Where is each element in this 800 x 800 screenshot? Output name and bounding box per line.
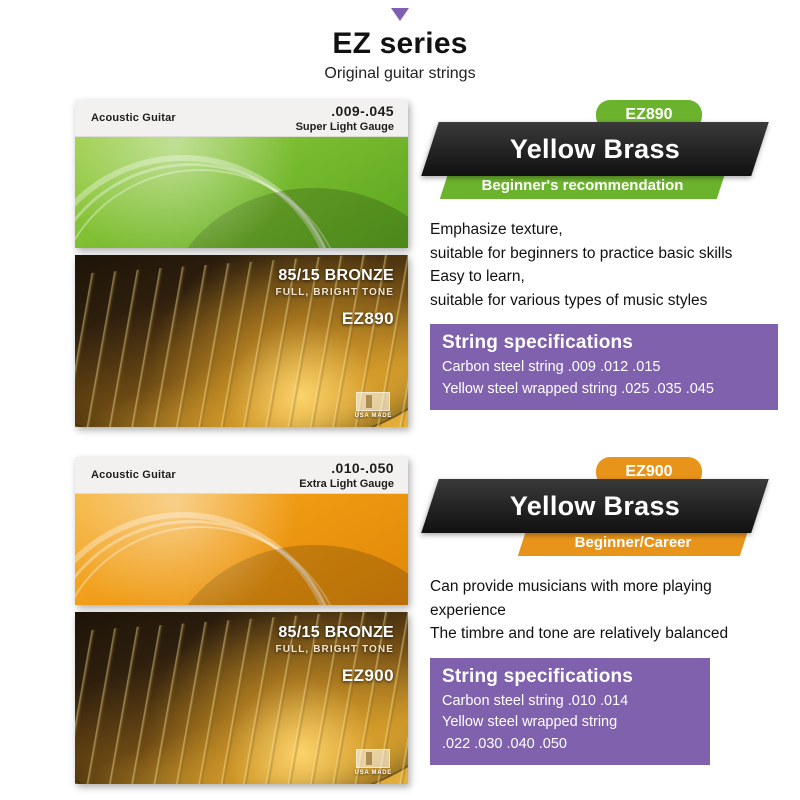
spec-line: .022 .030 .040 .050 (442, 734, 698, 755)
package-gauge-range: .010-.050 (299, 460, 394, 478)
description-line: suitable for beginners to practice basic… (430, 242, 786, 266)
product-info-ez890: EZ890 Yellow Brass Beginner's recommenda… (430, 100, 786, 410)
package-category: Acoustic Guitar (91, 469, 176, 481)
caret-down-icon (391, 8, 409, 21)
bronze-subtitle: FULL, BRIGHT TONE (275, 644, 394, 655)
origin-mark: USA MADE (355, 392, 392, 419)
package-bronze-ez890[interactable]: 85/15 BRONZE FULL, BRIGHT TONE EZ890 USA… (75, 255, 408, 427)
banner-title: Yellow Brass (430, 122, 760, 176)
package-gauge-name: Super Light Gauge (296, 121, 394, 135)
product-info-ez900: EZ900 Yellow Brass Beginner/Career Can p… (430, 457, 786, 765)
product-description-ez890: Emphasize texture, suitable for beginner… (430, 218, 786, 312)
origin-label: USA MADE (355, 413, 392, 419)
bronze-title: 85/15 BRONZE (275, 624, 394, 642)
brand-logo-icon (356, 749, 390, 768)
spec-title: String specifications (442, 666, 698, 688)
package-images-ez890: Acoustic Guitar .009-.045 Super Light Ga… (75, 100, 408, 427)
bronze-title: 85/15 BRONZE (275, 267, 394, 285)
banner-ribbon-label: Beginner's recommendation (444, 173, 721, 199)
spec-line: Yellow steel wrapped string .025 .035 .0… (442, 379, 766, 400)
package-header-ez900: Acoustic Guitar .010-.050 Extra Light Ga… (75, 457, 408, 494)
bronze-model: EZ890 (275, 309, 394, 329)
package-gauge-name: Extra Light Gauge (299, 478, 394, 492)
spec-title: String specifications (442, 332, 766, 354)
swirl-sheen (75, 494, 408, 605)
product-banner-ez890: EZ890 Yellow Brass Beginner's recommenda… (430, 100, 786, 208)
description-line: The timbre and tone are relatively balan… (430, 622, 786, 646)
package-front-ez900[interactable]: Acoustic Guitar .010-.050 Extra Light Ga… (75, 457, 408, 605)
banner-ribbon: Beginner/Career (518, 530, 748, 556)
spec-box-ez900: String specifications Carbon steel strin… (430, 658, 710, 765)
banner-title: Yellow Brass (430, 479, 760, 533)
package-images-ez900: Acoustic Guitar .010-.050 Extra Light Ga… (75, 457, 408, 784)
package-bronze-ez900[interactable]: 85/15 BRONZE FULL, BRIGHT TONE EZ900 USA… (75, 612, 408, 784)
package-gauge: .009-.045 Super Light Gauge (296, 103, 394, 134)
package-gauge: .010-.050 Extra Light Gauge (299, 460, 394, 491)
description-line: suitable for various types of music styl… (430, 289, 786, 313)
product-description-ez900: Can provide musicians with more playing … (430, 575, 786, 646)
swirl-sheen (75, 137, 408, 248)
bronze-model: EZ900 (275, 666, 394, 686)
page-header: EZ series Original guitar strings (0, 0, 800, 83)
spec-line: Carbon steel string .010 .014 (442, 691, 698, 712)
package-gauge-range: .009-.045 (296, 103, 394, 121)
spec-line: Yellow steel wrapped string (442, 712, 698, 733)
bronze-caption: 85/15 BRONZE FULL, BRIGHT TONE EZ890 (275, 267, 394, 329)
spec-line: Carbon steel string .009 .012 .015 (442, 357, 766, 378)
description-line: experience (430, 599, 786, 623)
origin-mark: USA MADE (355, 749, 392, 776)
origin-label: USA MADE (355, 770, 392, 776)
banner-ribbon: Beginner's recommendation (440, 173, 725, 199)
bronze-caption: 85/15 BRONZE FULL, BRIGHT TONE EZ900 (275, 624, 394, 686)
bronze-subtitle: FULL, BRIGHT TONE (275, 287, 394, 298)
description-line: Emphasize texture, (430, 218, 786, 242)
package-front-ez890[interactable]: Acoustic Guitar .009-.045 Super Light Ga… (75, 100, 408, 248)
package-category: Acoustic Guitar (91, 112, 176, 124)
description-line: Easy to learn, (430, 265, 786, 289)
banner-ribbon-label: Beginner/Career (522, 530, 744, 556)
page-subtitle: Original guitar strings (0, 65, 800, 83)
description-line: Can provide musicians with more playing (430, 575, 786, 599)
bronze-photo: 85/15 BRONZE FULL, BRIGHT TONE EZ900 USA… (75, 612, 408, 784)
bronze-photo: 85/15 BRONZE FULL, BRIGHT TONE EZ890 USA… (75, 255, 408, 427)
spec-box-ez890: String specifications Carbon steel strin… (430, 324, 778, 410)
package-artwork-orange (75, 494, 408, 605)
package-header-ez890: Acoustic Guitar .009-.045 Super Light Ga… (75, 100, 408, 137)
brand-logo-icon (356, 392, 390, 411)
product-banner-ez900: EZ900 Yellow Brass Beginner/Career (430, 457, 786, 565)
package-artwork-green (75, 137, 408, 248)
page-title: EZ series (0, 27, 800, 60)
